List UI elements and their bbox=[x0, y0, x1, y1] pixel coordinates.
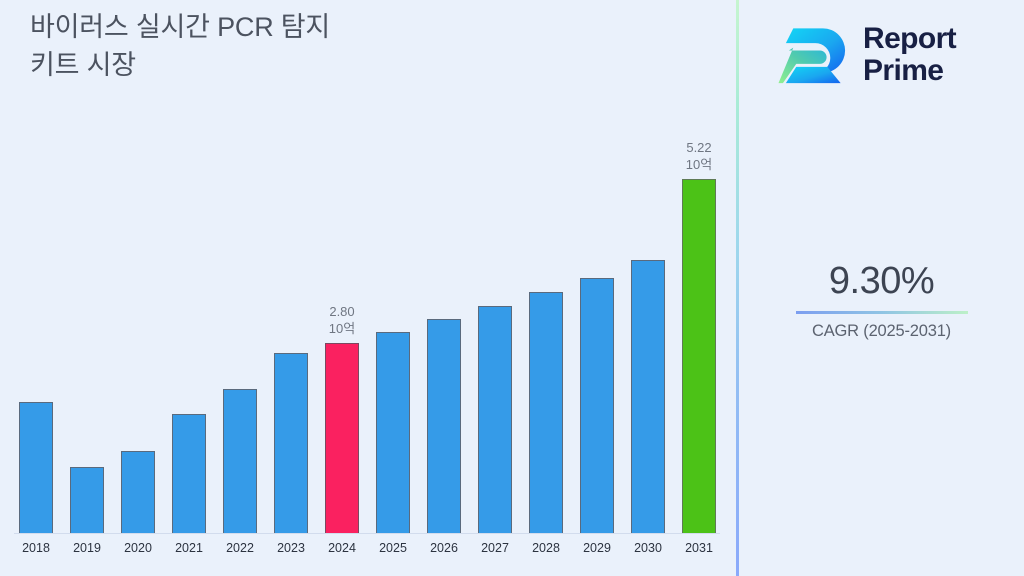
bar-2025[interactable] bbox=[376, 332, 410, 533]
chart-page: 바이러스 실시간 PCR 탐지 키트 시장 201820192020202120… bbox=[0, 0, 1024, 576]
bar-value-label-2031: 5.22 10억 bbox=[654, 139, 744, 173]
bar-2019[interactable] bbox=[70, 467, 104, 533]
logo-wordmark: Report Prime bbox=[863, 23, 956, 87]
report-prime-logo-mark bbox=[777, 18, 851, 92]
cagr-divider-rule bbox=[796, 311, 968, 314]
x-tick-2031: 2031 bbox=[669, 540, 729, 556]
cagr-block: 9.30% CAGR (2025-2031) bbox=[739, 258, 1024, 342]
bar-chart-plot: 2018201920202021202220232.80 10억20242025… bbox=[0, 0, 737, 576]
bar-2027[interactable] bbox=[478, 306, 512, 533]
bar-value-label-2024: 2.80 10억 bbox=[297, 303, 387, 337]
bar-2029[interactable] bbox=[580, 278, 614, 533]
brand-panel: Report Prime 9.30% CAGR (2025-2031) bbox=[739, 0, 1024, 576]
report-prime-logo[interactable]: Report Prime bbox=[777, 12, 1007, 98]
bar-2028[interactable] bbox=[529, 292, 563, 533]
cagr-value: 9.30% bbox=[739, 258, 1024, 304]
chart-panel: 바이러스 실시간 PCR 탐지 키트 시장 201820192020202120… bbox=[0, 0, 737, 576]
bar-2018[interactable] bbox=[19, 402, 53, 533]
bar-2021[interactable] bbox=[172, 414, 206, 533]
bar-2026[interactable] bbox=[427, 319, 461, 533]
bar-2022[interactable] bbox=[223, 389, 257, 533]
cagr-caption: CAGR (2025-2031) bbox=[739, 320, 1024, 342]
bar-2020[interactable] bbox=[121, 451, 155, 533]
bar-2023[interactable] bbox=[274, 353, 308, 533]
bar-2030[interactable] bbox=[631, 260, 665, 533]
bar-2024[interactable] bbox=[325, 343, 359, 533]
bar-2031[interactable] bbox=[682, 179, 716, 533]
x-axis-baseline bbox=[14, 533, 720, 534]
